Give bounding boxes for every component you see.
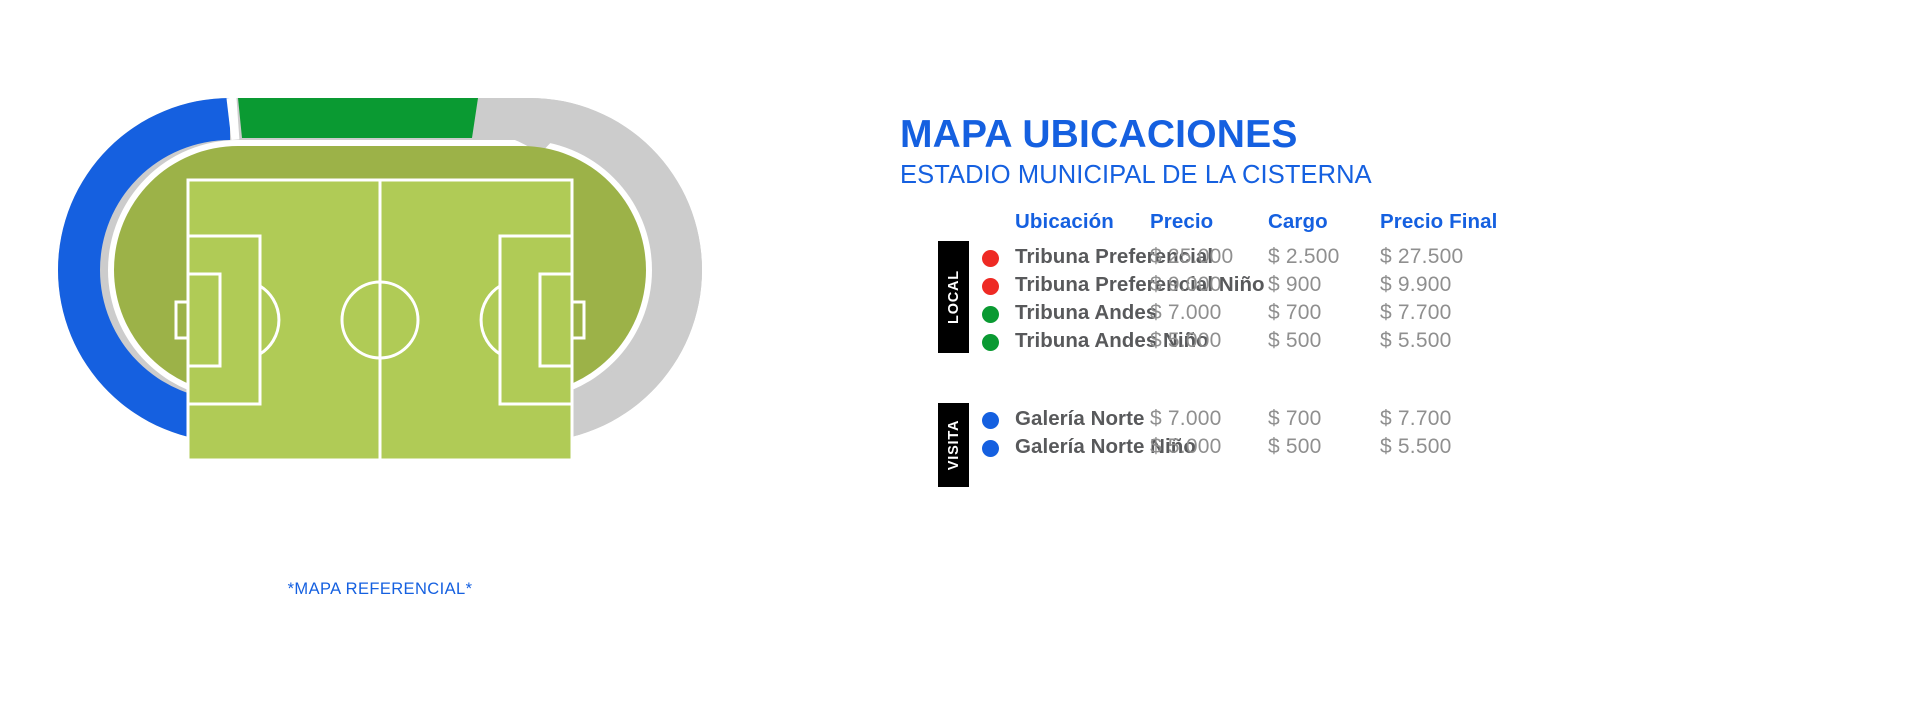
table-row[interactable]: Tribuna Andes Niño $ 5.000 $ 500 $ 5.500 bbox=[760, 329, 1920, 357]
column-header-ubicacion: Ubicación bbox=[1015, 210, 1114, 234]
stadium-seating-map[interactable] bbox=[40, 80, 720, 570]
pricing-info-panel: MAPA UBICACIONES ESTADIO MUNICIPAL DE LA… bbox=[760, 0, 1920, 720]
table-row[interactable]: Tribuna Andes $ 7.000 $ 700 $ 7.700 bbox=[760, 301, 1920, 329]
row-ubicacion: Tribuna Andes bbox=[1015, 301, 1157, 325]
stadium-map-panel: *MAPA REFERENCIAL* bbox=[0, 0, 760, 720]
table-row[interactable]: Tribuna Preferencial Niño $ 9.000 $ 900 … bbox=[760, 273, 1920, 301]
row-precio-final: $ 27.500 bbox=[1380, 245, 1570, 269]
mapa-ubicaciones-page: *MAPA REFERENCIAL* MAPA UBICACIONES ESTA… bbox=[0, 0, 1920, 720]
table-row[interactable]: Galería Norte Niño $ 5.000 $ 500 $ 5.500 bbox=[760, 435, 1920, 463]
zone-color-dot bbox=[982, 412, 999, 429]
table-row[interactable]: Tribuna Preferencial $ 25.000 $ 2.500 $ … bbox=[760, 245, 1920, 273]
column-header-precio-final: Precio Final bbox=[1380, 210, 1570, 234]
zone-color-dot bbox=[982, 250, 999, 267]
table-row[interactable]: Galería Norte $ 7.000 $ 700 $ 7.700 bbox=[760, 407, 1920, 435]
map-reference-caption: *MAPA REFERENCIAL* bbox=[40, 580, 720, 599]
row-precio-final: $ 7.700 bbox=[1380, 301, 1570, 325]
zone-color-dot bbox=[982, 278, 999, 295]
row-precio-final: $ 7.700 bbox=[1380, 407, 1570, 431]
row-precio-final: $ 5.500 bbox=[1380, 435, 1570, 459]
zone-color-dot bbox=[982, 306, 999, 323]
row-precio-final: $ 9.900 bbox=[1380, 273, 1570, 297]
zone-color-dot bbox=[982, 334, 999, 351]
zone-color-dot bbox=[982, 440, 999, 457]
pricing-table: Ubicación Precio Cargo Precio Final LOCA… bbox=[760, 0, 1920, 720]
row-ubicacion: Galería Norte bbox=[1015, 407, 1144, 431]
zone-tribuna-andes[interactable] bbox=[238, 98, 478, 138]
table-header-row: Ubicación Precio Cargo Precio Final bbox=[760, 210, 1920, 238]
row-precio-final: $ 5.500 bbox=[1380, 329, 1570, 353]
